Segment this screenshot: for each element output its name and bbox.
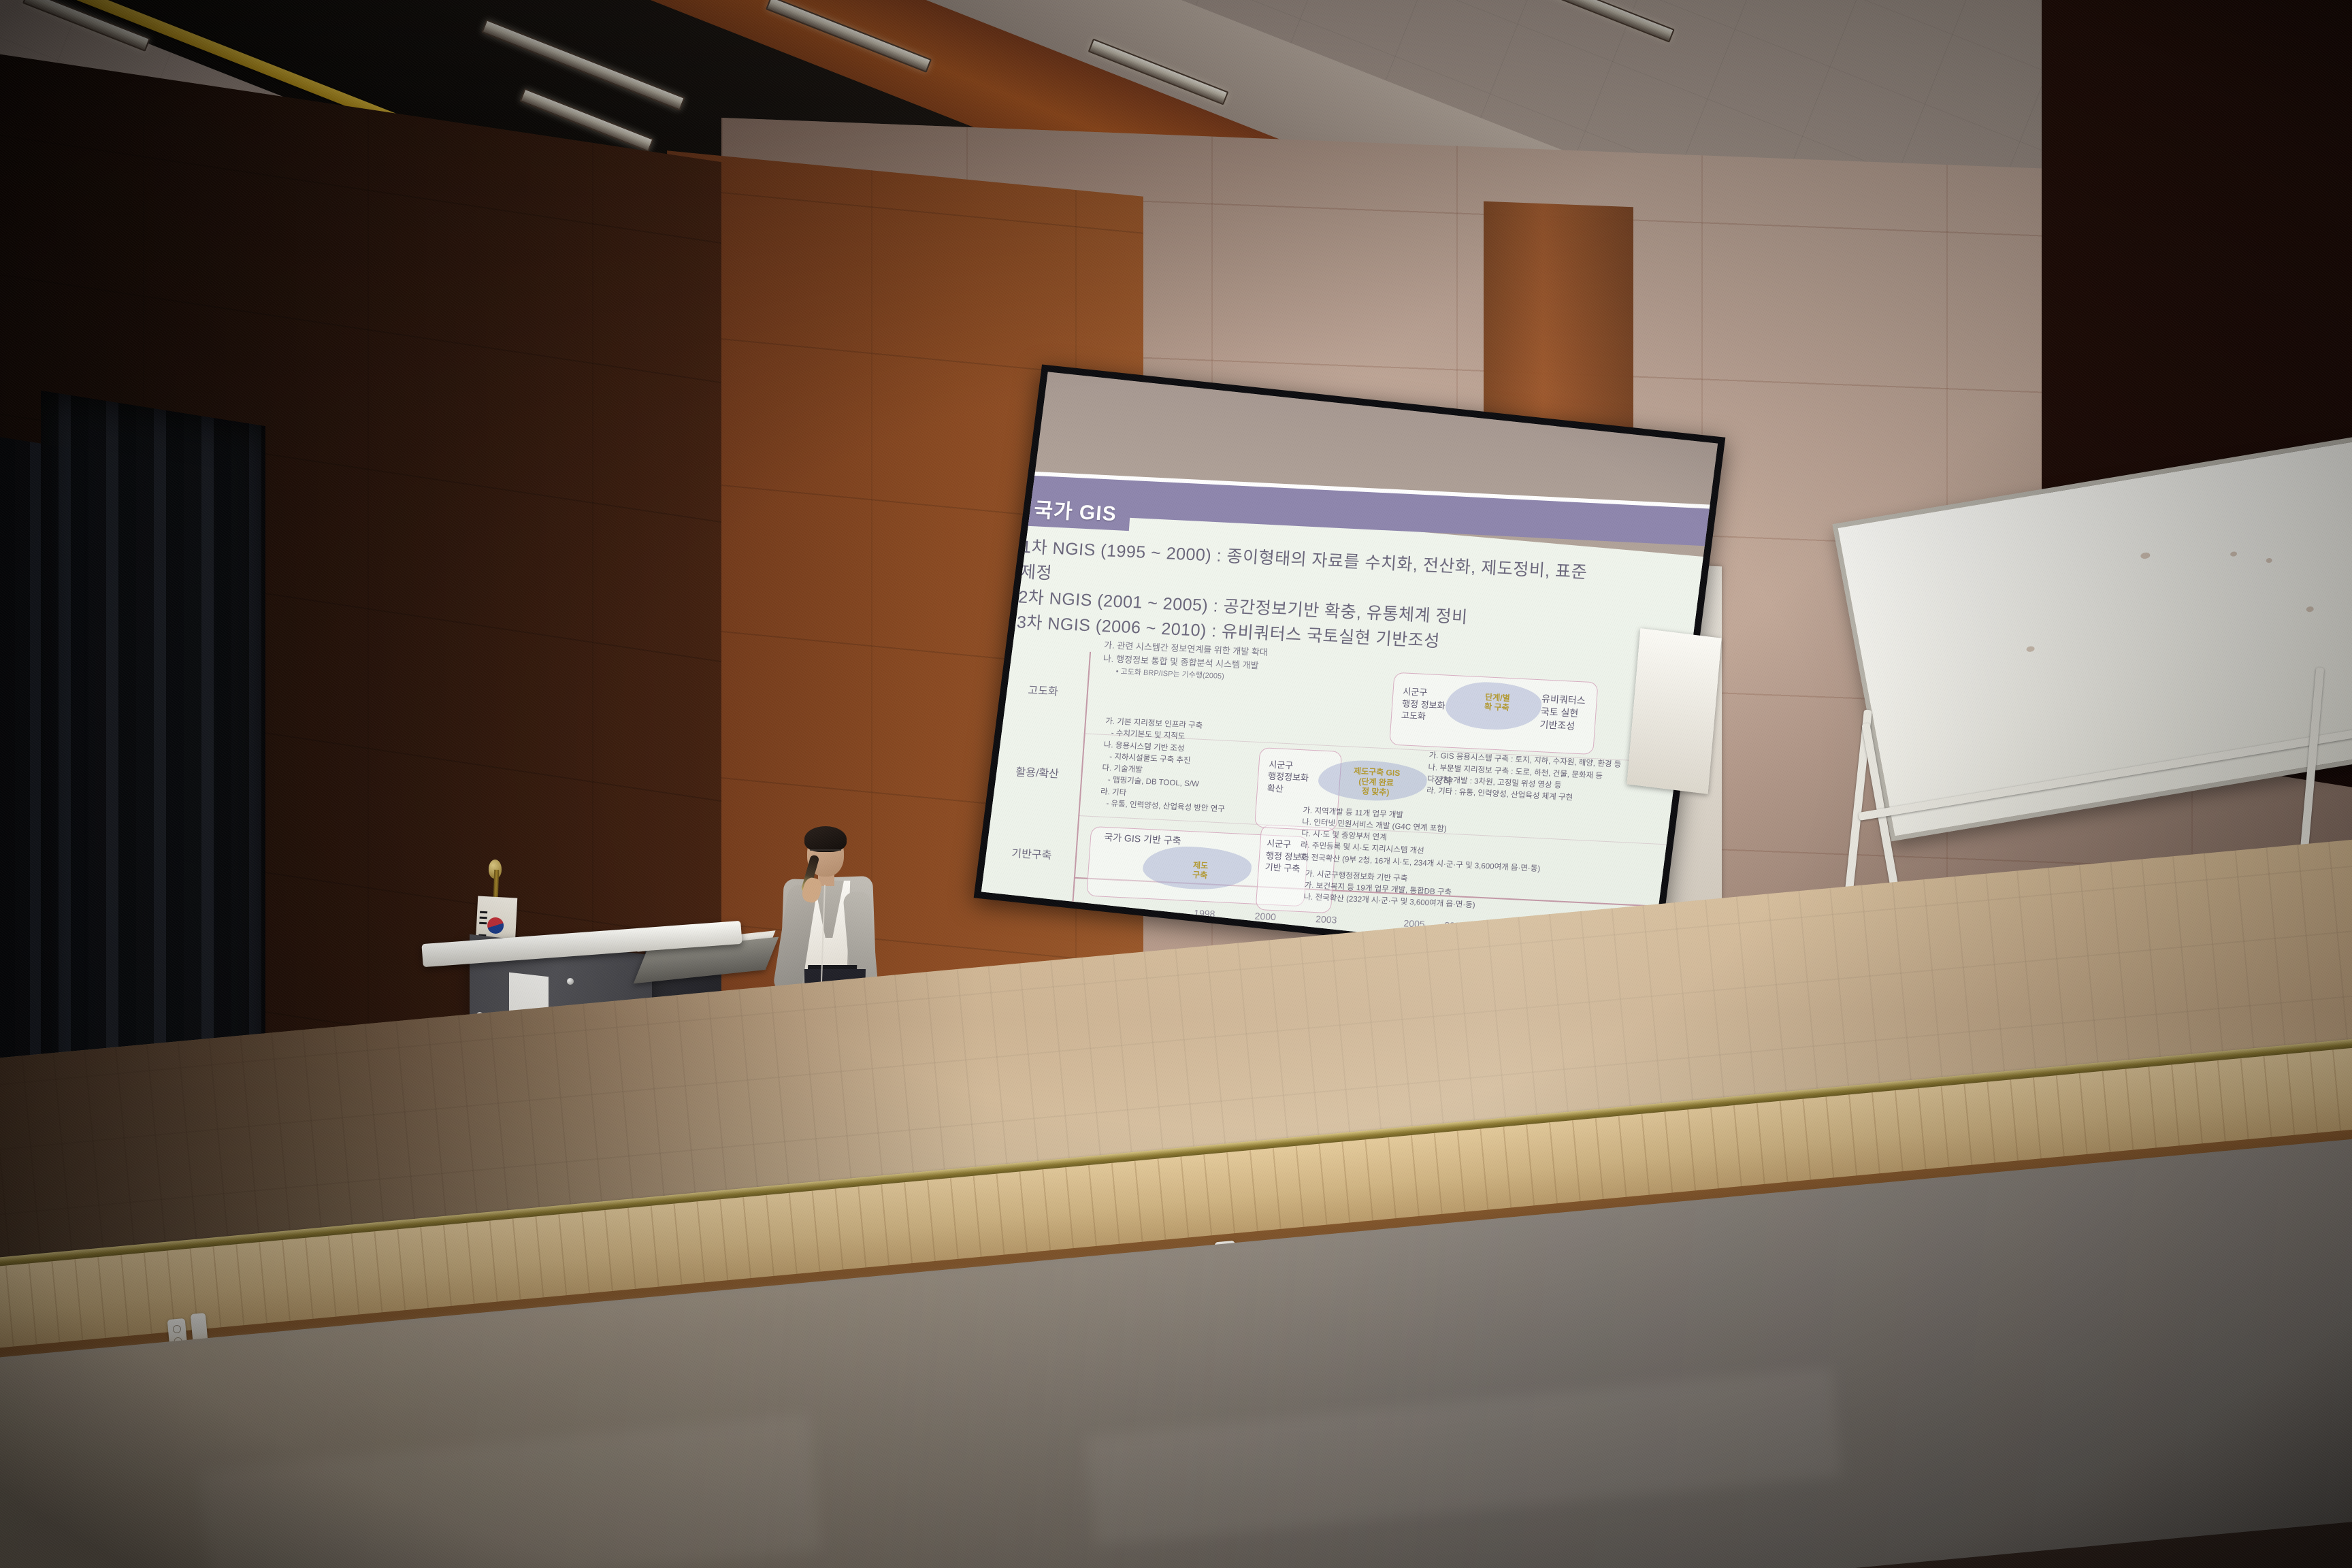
chart-phase-blob-label-1: 제도구축 xyxy=(1169,860,1231,882)
whiteboard-mark xyxy=(2026,646,2035,653)
chart-phase-label-4: 시군구행정 정보화고도화 xyxy=(1401,686,1446,724)
chart-detail-mid: 가. 지역개발 등 11개 업무 개발 나. 인터넷 민원서비스 개발 (G4C… xyxy=(1299,805,1544,875)
chart-x-tick-3: 2003 xyxy=(1316,914,1337,926)
trigram-bar xyxy=(479,922,487,925)
chart-detail-left: 가. 기본 지리정보 인프라 구축 - 수치기본도 및 지적도 나. 응용시스템… xyxy=(1099,716,1231,816)
whiteboard-mark xyxy=(2266,557,2272,563)
projection-screen-surface: 국가 GIS 1차 NGIS (1995 ~ 2000) : 종이형태의 자료를… xyxy=(981,372,1718,963)
chart-x-tick-1: 1998 xyxy=(1194,908,1215,919)
chart-phase-blob-label-4: 단계/별확 구축 xyxy=(1459,691,1535,715)
trigram-bar xyxy=(480,917,487,919)
whiteboard-mark xyxy=(2306,606,2314,612)
whiteboard-mark xyxy=(2140,552,2151,559)
slide-timeline-chart: 고도화 활용/확산 기반구축 국가 GIS 기반 구축 제도구축 시군구행정 정… xyxy=(997,649,1692,945)
chart-y-label-2: 기반구축 xyxy=(994,848,1070,863)
presentation-slide: 국가 GIS 1차 NGIS (1995 ~ 2000) : 종이형태의 자료를… xyxy=(981,496,1718,964)
chart-phase-blob-label-3: 제도구축 GIS(단계 완료정 맞추) xyxy=(1331,766,1421,799)
lecture-hall-photo: 국가 GIS 1차 NGIS (1995 ~ 2000) : 종이형태의 자료를… xyxy=(0,0,2352,1568)
trigram-bar xyxy=(480,911,487,914)
chart-detail-top: 가. GIS 응용시스템 구축 : 토지, 지하, 수자원, 해양, 환경 등 … xyxy=(1426,751,1621,807)
slide-title: 국가 GIS xyxy=(1020,489,1132,531)
chart-y-label-0: 고도화 xyxy=(1005,685,1081,700)
presenter-hair xyxy=(804,826,847,852)
projection-screen: 국가 GIS 1차 NGIS (1995 ~ 2000) : 종이형태의 자료를… xyxy=(974,364,1726,970)
taeguk-symbol xyxy=(487,917,504,934)
chart-x-tick-2: 2000 xyxy=(1254,911,1276,922)
wall-paper-sign xyxy=(1627,628,1721,794)
chart-y-label-1: 활용/확산 xyxy=(1000,766,1075,781)
chart-phase-label-3: 시군구행정정보화확산 xyxy=(1267,759,1309,796)
chart-phase-text-4: 유비쿼터스국토 실현기반조성 xyxy=(1539,693,1586,734)
whiteboard-mark xyxy=(2230,551,2238,557)
podium-knob xyxy=(567,978,574,985)
outlet-socket xyxy=(172,1325,181,1334)
